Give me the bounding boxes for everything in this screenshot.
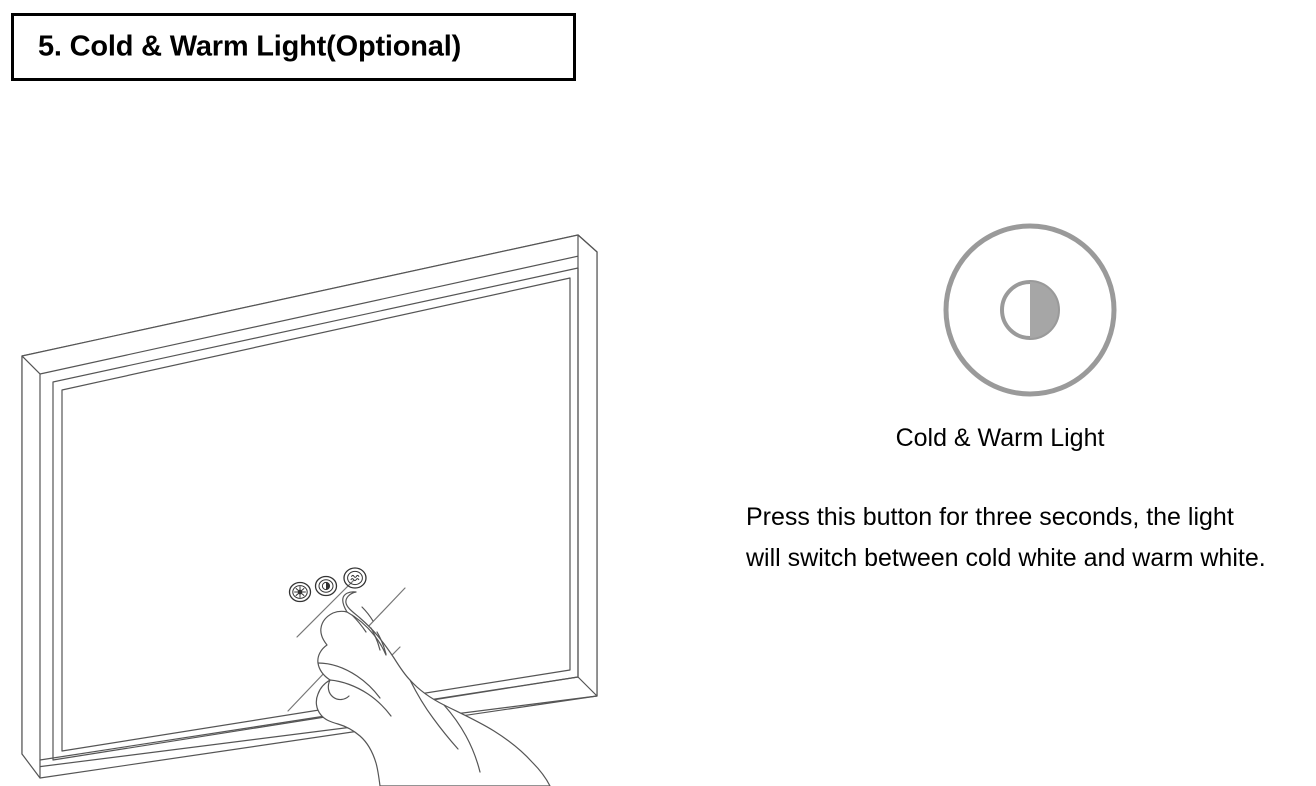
section-title-box: 5. Cold & Warm Light(Optional) — [11, 13, 576, 81]
sun-icon — [295, 587, 306, 598]
description-line-2: will switch between cold white and warm … — [746, 538, 1316, 579]
feature-label: Cold & Warm Light — [690, 425, 1310, 453]
feature-description: Press this button for three seconds, the… — [746, 497, 1316, 579]
description-line-1: Press this button for three seconds, the… — [746, 497, 1316, 538]
half-moon-contrast-glyph — [1002, 282, 1058, 338]
mirror-illustration — [0, 180, 660, 786]
page-title: 5. Cold & Warm Light(Optional) — [38, 33, 461, 62]
feature-panel: Cold & Warm Light Press this button for … — [690, 200, 1310, 620]
cold-warm-light-icon — [940, 220, 1120, 400]
brightness-button — [290, 583, 311, 602]
color-temperature-button — [316, 577, 337, 596]
